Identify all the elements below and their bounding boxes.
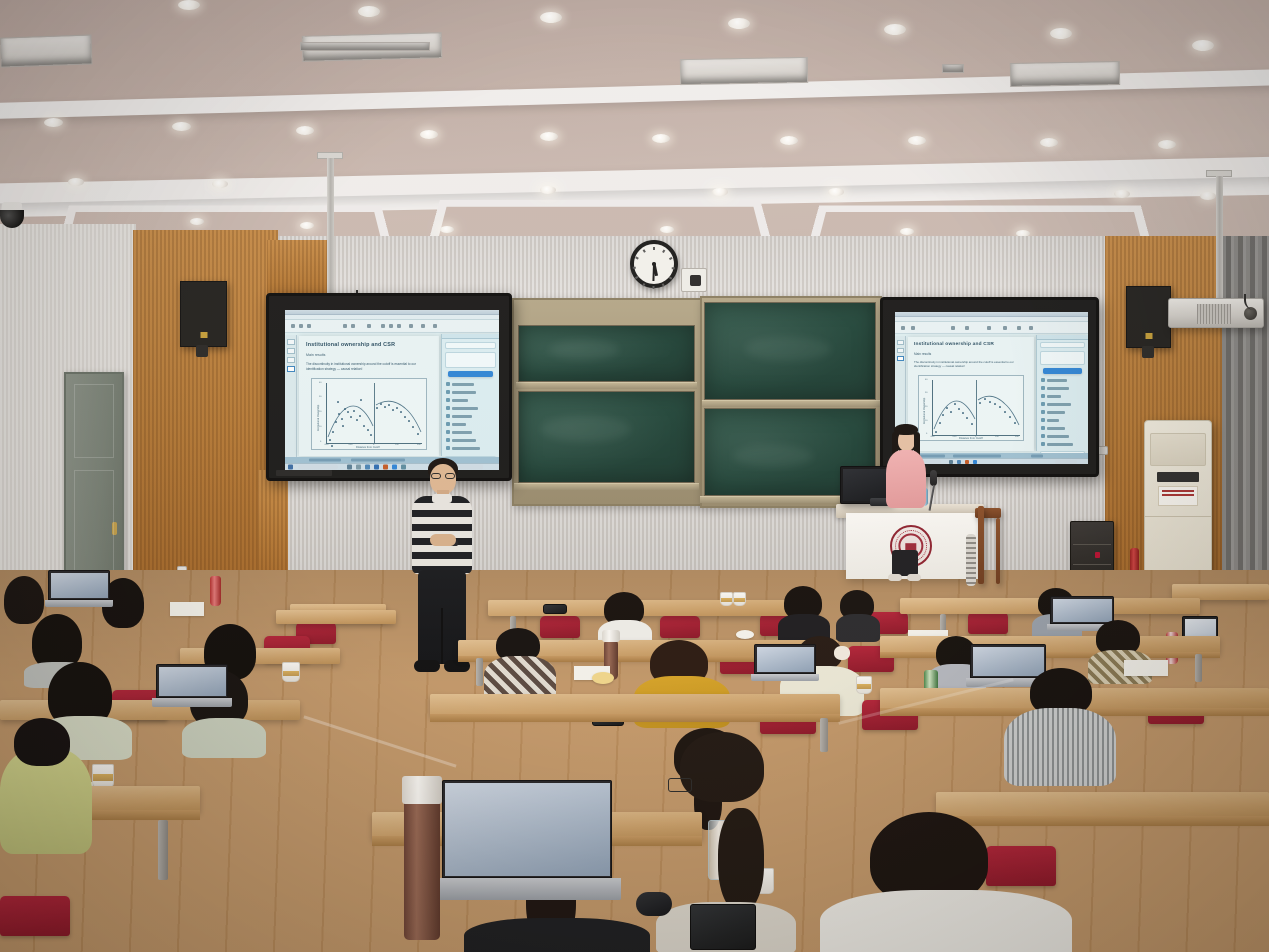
downlight bbox=[1158, 140, 1176, 149]
side-panel-item[interactable] bbox=[446, 446, 495, 450]
downlight bbox=[172, 122, 191, 131]
downlight bbox=[296, 126, 314, 135]
item-label bbox=[1047, 435, 1069, 438]
desk-leg bbox=[476, 658, 483, 686]
laptop-lid[interactable] bbox=[754, 644, 816, 674]
host-arms bbox=[430, 534, 456, 546]
clock-center-pin bbox=[652, 262, 656, 266]
app-ribbon bbox=[895, 322, 1088, 334]
laptop[interactable] bbox=[156, 664, 228, 708]
downlight bbox=[178, 0, 200, 10]
downlight bbox=[540, 186, 556, 194]
cabinet-shelf bbox=[1073, 564, 1111, 565]
audience-member-foreground bbox=[0, 718, 90, 848]
security-camera bbox=[0, 200, 24, 230]
phone[interactable] bbox=[690, 904, 756, 950]
host-glasses bbox=[445, 473, 455, 479]
taskbar-app-icon[interactable] bbox=[392, 465, 397, 470]
image-icon bbox=[446, 398, 450, 402]
item-label bbox=[1047, 427, 1065, 430]
paper-cup bbox=[733, 592, 746, 606]
side-panel-item[interactable] bbox=[1041, 402, 1084, 406]
left-blackboard-lower bbox=[518, 391, 695, 483]
shape-icon bbox=[1041, 410, 1045, 414]
side-panel-item[interactable] bbox=[446, 438, 495, 442]
ribbon-icon[interactable] bbox=[291, 324, 295, 328]
torso bbox=[464, 918, 650, 952]
text-icon bbox=[1041, 386, 1045, 390]
laptop-screen[interactable] bbox=[51, 573, 108, 598]
underline-icon[interactable] bbox=[421, 324, 425, 328]
item-label bbox=[452, 423, 466, 426]
speaker-led bbox=[1145, 333, 1152, 339]
hair bbox=[680, 732, 764, 802]
shape-icon bbox=[446, 414, 450, 418]
torso bbox=[182, 718, 266, 758]
item-label bbox=[452, 383, 474, 386]
side-panel-item[interactable] bbox=[1041, 426, 1084, 430]
seat bbox=[0, 896, 70, 936]
window-curtain bbox=[1222, 236, 1269, 596]
side-panel-item[interactable] bbox=[1041, 394, 1084, 398]
slide-thumbnail[interactable] bbox=[897, 340, 904, 345]
ceiling-vent-right bbox=[680, 57, 808, 85]
laptop-foreground[interactable] bbox=[442, 780, 612, 902]
status-left bbox=[309, 459, 341, 462]
seat bbox=[968, 612, 1008, 634]
desk-row-4-mid bbox=[488, 600, 818, 616]
taskbar-app-icon[interactable] bbox=[965, 460, 969, 464]
clock-tick bbox=[653, 247, 655, 250]
cup-band bbox=[93, 774, 113, 781]
table-icon bbox=[446, 430, 450, 434]
clock-tick bbox=[635, 257, 638, 260]
item-label bbox=[1047, 411, 1065, 414]
eyeglasses bbox=[668, 778, 692, 792]
side-panel-header bbox=[1037, 335, 1088, 340]
ceiling-vent-coffer2 bbox=[300, 42, 430, 51]
projector-pole-right bbox=[1216, 176, 1223, 302]
status-right bbox=[1031, 454, 1043, 457]
system-tray-clock[interactable] bbox=[1055, 460, 1077, 464]
desk-edge bbox=[430, 714, 840, 722]
item-label bbox=[1047, 395, 1061, 398]
smartboard-left[interactable]: Institutional ownership and CSR Main res… bbox=[266, 293, 512, 481]
ribbon-icon[interactable] bbox=[911, 326, 915, 330]
paper-cup bbox=[282, 662, 300, 682]
downlight bbox=[884, 24, 906, 35]
door-handle[interactable] bbox=[112, 522, 117, 535]
downlight bbox=[660, 226, 674, 233]
desk-leg bbox=[158, 820, 168, 880]
cable-coil bbox=[966, 534, 976, 586]
ribbon-icon[interactable] bbox=[381, 324, 385, 328]
laptop-base[interactable] bbox=[152, 698, 231, 707]
downlight bbox=[712, 188, 728, 196]
downlight bbox=[1114, 190, 1130, 198]
layout-icon bbox=[446, 382, 450, 386]
audience-member-foreground bbox=[830, 812, 1060, 952]
ribbon-icon[interactable] bbox=[343, 324, 347, 328]
laptop-screen[interactable] bbox=[1053, 599, 1112, 622]
side-panel-item[interactable] bbox=[446, 406, 495, 410]
bold-icon[interactable] bbox=[397, 324, 401, 328]
snack-plate bbox=[592, 672, 614, 684]
ribbon-icon[interactable] bbox=[901, 326, 905, 330]
side-panel-item[interactable] bbox=[446, 390, 495, 394]
side-panel-item[interactable] bbox=[1041, 418, 1084, 422]
taskbar-app-icon[interactable] bbox=[374, 465, 379, 470]
ribbon-icon[interactable] bbox=[965, 326, 969, 330]
presenter-torso bbox=[886, 450, 926, 508]
bold-icon[interactable] bbox=[1003, 326, 1007, 330]
ai-side-panel[interactable] bbox=[441, 334, 499, 456]
drink-bottle bbox=[210, 576, 221, 606]
host-glasses bbox=[431, 473, 441, 479]
app-ribbon bbox=[285, 320, 499, 333]
ai-side-panel[interactable] bbox=[1036, 335, 1088, 451]
slide-thumbnail[interactable] bbox=[287, 348, 295, 354]
presenter-shoe bbox=[907, 574, 921, 581]
status-center bbox=[953, 454, 1001, 457]
desk-row-2-mid bbox=[430, 694, 840, 716]
slide-title: Institutional ownership and CSR bbox=[914, 342, 994, 347]
item-label bbox=[452, 399, 468, 402]
laptop-lid[interactable] bbox=[442, 780, 612, 878]
taskbar-app-icon[interactable] bbox=[957, 460, 961, 464]
cabinet-shelf bbox=[1073, 544, 1111, 545]
chalk-tray-left-lower bbox=[514, 483, 699, 490]
color-icon bbox=[446, 422, 450, 426]
downlight bbox=[68, 178, 84, 186]
ceiling-vent-small bbox=[942, 64, 964, 73]
font-color-icon[interactable] bbox=[433, 324, 437, 328]
chalk-smudge bbox=[541, 416, 631, 442]
downlight bbox=[440, 226, 454, 233]
downlight bbox=[780, 136, 798, 145]
cup-band bbox=[857, 684, 871, 689]
ac-display bbox=[1157, 472, 1199, 482]
thermos-cap bbox=[602, 630, 620, 642]
item-label bbox=[452, 391, 476, 394]
text-icon bbox=[446, 390, 450, 394]
slide-thumbnail[interactable] bbox=[287, 339, 295, 345]
projector-cable-right bbox=[1244, 294, 1264, 310]
wall-speaker-right bbox=[1126, 286, 1171, 348]
downlight bbox=[1192, 40, 1214, 51]
laptop-base[interactable] bbox=[434, 878, 621, 900]
layout-icon bbox=[1041, 378, 1045, 382]
status-center bbox=[351, 459, 405, 462]
chalk-smudge bbox=[745, 337, 831, 361]
smartboard-left-display[interactable]: Institutional ownership and CSR Main res… bbox=[285, 310, 499, 470]
hair-scrunchie bbox=[834, 646, 850, 660]
slide-body-text: The discontinuity in institutional owner… bbox=[914, 360, 1028, 369]
item-label bbox=[1047, 403, 1071, 406]
underline-icon[interactable] bbox=[1029, 326, 1033, 330]
downlight bbox=[728, 18, 750, 29]
side-panel-item[interactable] bbox=[446, 414, 495, 418]
audience-member bbox=[1010, 668, 1110, 778]
laptop[interactable] bbox=[754, 644, 816, 682]
downlight bbox=[300, 222, 314, 229]
projector-vent bbox=[1197, 304, 1231, 324]
thermos-flask-foreground bbox=[404, 800, 440, 940]
downlight bbox=[908, 136, 926, 145]
italic-icon[interactable] bbox=[409, 324, 413, 328]
smartboard-left-logo bbox=[276, 470, 332, 476]
downlight bbox=[540, 132, 558, 141]
italic-icon[interactable] bbox=[1017, 326, 1021, 330]
desk-leg bbox=[820, 718, 828, 752]
ribbon-icon[interactable] bbox=[307, 324, 311, 328]
left-blackboard-upper bbox=[518, 325, 695, 382]
chart-icon bbox=[1041, 402, 1045, 406]
item-label bbox=[452, 447, 480, 450]
taskbar-app-icon[interactable] bbox=[356, 465, 361, 470]
chalk-smudge bbox=[733, 445, 813, 467]
lecture-hall-photo: Institutional ownership and CSR Main res… bbox=[0, 0, 1269, 952]
ribbon-icon[interactable] bbox=[299, 324, 303, 328]
chart-x-axis-label: Distance from Cutoff bbox=[959, 437, 983, 440]
slide-thumbnail[interactable] bbox=[897, 348, 904, 353]
chalk-tray-left-upper bbox=[516, 382, 697, 389]
item-label bbox=[1047, 419, 1059, 422]
side-panel-item[interactable] bbox=[1041, 410, 1084, 414]
chalk-smudge bbox=[549, 340, 619, 360]
clock-tick bbox=[669, 276, 672, 279]
item-label bbox=[1047, 443, 1073, 446]
taskbar-app-icon[interactable] bbox=[383, 465, 388, 470]
cabinet-indicator bbox=[1095, 552, 1100, 558]
ceiling-vent-far bbox=[1010, 61, 1120, 87]
animate-icon bbox=[1041, 434, 1045, 438]
side-panel-dropdown[interactable] bbox=[445, 342, 496, 349]
laptop-base[interactable] bbox=[751, 674, 819, 681]
podium-presenter bbox=[880, 424, 930, 584]
side-panel-dropdown[interactable] bbox=[1040, 342, 1085, 348]
thermos-cap bbox=[402, 776, 442, 804]
clock-tick bbox=[643, 283, 646, 286]
search-box[interactable] bbox=[298, 465, 338, 470]
clock-minute-hand bbox=[652, 264, 655, 281]
cup-band bbox=[721, 598, 732, 602]
slide-thumbnail-strip[interactable] bbox=[285, 335, 297, 457]
ponytail bbox=[718, 808, 764, 912]
right-blackboard-upper bbox=[704, 302, 876, 400]
clock-tick bbox=[633, 267, 636, 269]
side-panel-item[interactable] bbox=[446, 382, 495, 386]
wooden-chair-leg bbox=[996, 518, 1000, 584]
slide-subtitle: Main results bbox=[306, 353, 325, 357]
slide-thumbnail-active[interactable] bbox=[897, 356, 904, 361]
laptop-lid[interactable] bbox=[48, 570, 110, 600]
wall-clock bbox=[630, 240, 678, 288]
taskbar-app-icon[interactable] bbox=[973, 460, 977, 464]
table-icon bbox=[1041, 426, 1045, 430]
item-label bbox=[452, 407, 478, 410]
seat bbox=[660, 616, 700, 638]
wooden-chair-back bbox=[978, 506, 984, 584]
chalk-tray-right-upper bbox=[702, 400, 880, 407]
wood-panel-strip bbox=[258, 470, 288, 580]
item-label bbox=[452, 431, 472, 434]
ac-seam bbox=[1145, 516, 1211, 517]
taskbar-app-icon[interactable] bbox=[365, 465, 370, 470]
cup-band bbox=[283, 671, 299, 676]
slide-chart: Distance from Cutoff Institutional Owner… bbox=[311, 378, 427, 450]
downlight bbox=[420, 130, 438, 139]
side-panel-item[interactable] bbox=[446, 422, 495, 426]
item-label bbox=[452, 415, 472, 418]
host-shoe bbox=[414, 660, 440, 672]
clock-tick bbox=[662, 249, 665, 252]
cup-band bbox=[734, 598, 745, 602]
handout bbox=[1124, 660, 1168, 676]
downlight bbox=[652, 134, 670, 143]
laptop-base[interactable] bbox=[45, 600, 113, 607]
paper-cup bbox=[720, 592, 733, 606]
item-label bbox=[1047, 387, 1069, 390]
desk-row-4-left bbox=[276, 610, 396, 624]
laptop-screen[interactable] bbox=[159, 667, 226, 696]
host-trouser-split bbox=[441, 608, 443, 664]
audience-member bbox=[836, 590, 880, 638]
side-panel-item[interactable] bbox=[1041, 434, 1084, 438]
ribbon-icon[interactable] bbox=[367, 324, 371, 328]
torso bbox=[820, 890, 1072, 952]
hair bbox=[14, 718, 70, 766]
image-icon bbox=[1041, 394, 1045, 398]
ribbon-icon[interactable] bbox=[389, 324, 393, 328]
downlight bbox=[1200, 192, 1216, 200]
color-icon bbox=[1041, 418, 1045, 422]
snack-plate bbox=[736, 630, 754, 639]
laptop-lid[interactable] bbox=[156, 664, 228, 698]
speaker-bracket-left bbox=[196, 345, 208, 357]
downlight bbox=[900, 228, 914, 235]
phone[interactable] bbox=[543, 604, 567, 614]
paper-cup bbox=[92, 764, 114, 788]
host-collar bbox=[432, 494, 452, 503]
floor-air-conditioner bbox=[1144, 420, 1212, 588]
item-label bbox=[452, 439, 476, 442]
wall-control-panel[interactable] bbox=[681, 268, 707, 292]
side-panel-item[interactable] bbox=[1041, 442, 1084, 446]
slide-canvas[interactable]: Institutional ownership and CSR Main res… bbox=[299, 336, 439, 456]
wall-speaker-left bbox=[180, 281, 227, 347]
downlight bbox=[540, 12, 562, 23]
beautify-now-button[interactable] bbox=[1043, 368, 1082, 374]
speaker-bracket-right bbox=[1142, 346, 1154, 358]
ac-label bbox=[1158, 486, 1198, 506]
slide-thumbnail-active[interactable] bbox=[287, 366, 295, 372]
item-label bbox=[1047, 379, 1067, 382]
downlight bbox=[44, 118, 63, 127]
slide-title: Institutional ownership and CSR bbox=[306, 342, 395, 348]
side-panel-note bbox=[1040, 351, 1085, 365]
clock-tick bbox=[669, 257, 672, 260]
ac-louver bbox=[1150, 433, 1207, 466]
downlight bbox=[212, 180, 228, 188]
clock-tick bbox=[635, 276, 638, 279]
control-panel-button[interactable] bbox=[690, 275, 701, 286]
desk-leg bbox=[1195, 654, 1202, 682]
camera-dome bbox=[0, 210, 24, 228]
laptop-screen[interactable] bbox=[445, 783, 610, 876]
slide-thumbnail[interactable] bbox=[287, 357, 295, 363]
paper-cup bbox=[856, 676, 872, 694]
notebook bbox=[170, 602, 204, 616]
side-panel-item[interactable] bbox=[446, 430, 495, 434]
ribbon-icon[interactable] bbox=[987, 326, 991, 330]
ceiling-vent-left bbox=[0, 34, 92, 67]
slide-body-text: The discontinuity in institutional owner… bbox=[306, 362, 432, 372]
side-panel-item[interactable] bbox=[1041, 386, 1084, 390]
mic-head bbox=[930, 470, 937, 486]
downlight bbox=[358, 6, 380, 17]
downlight bbox=[1040, 138, 1058, 147]
side-panel-header bbox=[442, 334, 499, 339]
taskbar-app-icon[interactable] bbox=[949, 460, 953, 464]
ribbon-icon[interactable] bbox=[951, 326, 955, 330]
downlight bbox=[828, 188, 844, 196]
chart-x-axis-label: Distance from Cutoff bbox=[356, 446, 380, 449]
taskbar-app-icon[interactable] bbox=[347, 465, 352, 470]
laptop-screen[interactable] bbox=[757, 647, 814, 672]
side-panel-note bbox=[445, 352, 496, 368]
side-panel-item[interactable] bbox=[1041, 378, 1084, 382]
presenter-shoe bbox=[888, 574, 902, 581]
animate-icon bbox=[446, 438, 450, 442]
side-door[interactable] bbox=[64, 372, 124, 587]
clock-tick bbox=[643, 249, 646, 252]
export-icon bbox=[1041, 442, 1045, 446]
downlight bbox=[1050, 28, 1072, 39]
audience-member bbox=[486, 628, 552, 698]
projector-pole-left bbox=[327, 158, 334, 298]
chart-icon bbox=[446, 406, 450, 410]
computer-mouse[interactable] bbox=[636, 892, 672, 916]
slide-chart: Distance from Cutoff Institutional Owner… bbox=[918, 375, 1024, 441]
laptop[interactable] bbox=[48, 570, 110, 608]
slide-subtitle: Main results bbox=[914, 352, 931, 356]
downlight bbox=[190, 218, 204, 225]
speaker-led bbox=[200, 332, 207, 338]
start-button[interactable] bbox=[288, 465, 293, 470]
ribbon-icon[interactable] bbox=[351, 324, 355, 328]
beautify-now-button[interactable] bbox=[448, 371, 493, 377]
audience-member bbox=[780, 586, 828, 638]
clock-tick bbox=[672, 267, 675, 269]
presenter-legs bbox=[892, 550, 918, 576]
striped-shirt bbox=[1004, 708, 1116, 786]
export-icon bbox=[446, 446, 450, 450]
side-panel-item[interactable] bbox=[446, 398, 495, 402]
